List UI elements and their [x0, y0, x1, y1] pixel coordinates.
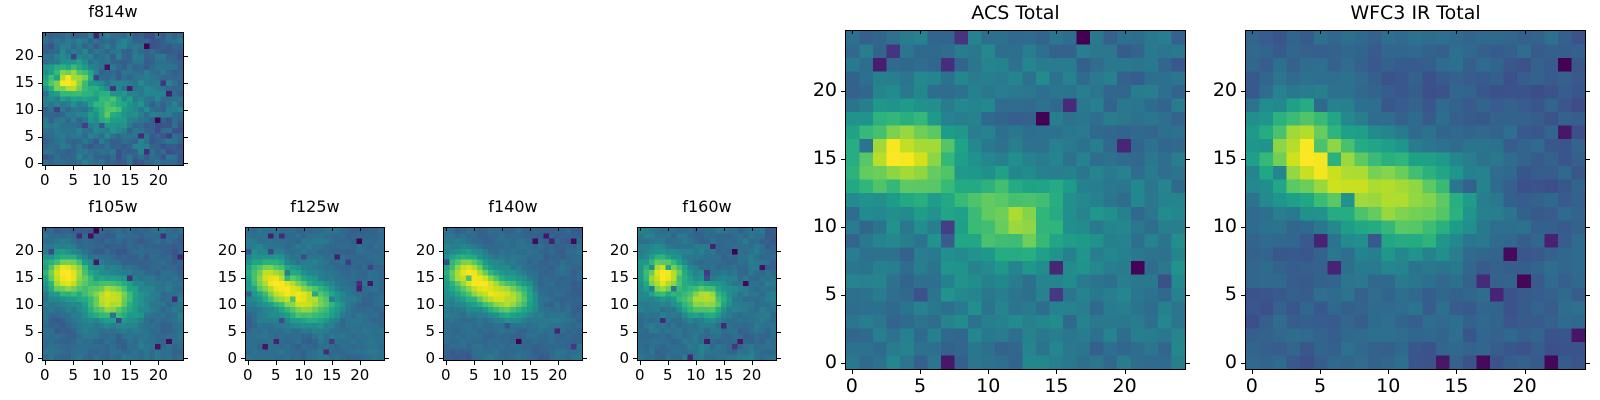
xtick-acs-total-3: [1056, 370, 1057, 374]
xtick-top-f814w-4: [158, 32, 159, 36]
ytick-label-f814w-4: 20: [0, 48, 34, 63]
ytick-label-wfc3-ir-total-0: 0: [1167, 353, 1237, 372]
ytick-acs-total-0: [841, 363, 845, 364]
heatmap-axes-f160w[interactable]: [637, 227, 777, 361]
xtick-top-f125w-4: [360, 227, 361, 231]
xtick-f125w-1: [276, 361, 277, 365]
ytick-label-acs-total-0: 0: [767, 353, 837, 372]
ytick-label-f160w-4: 20: [559, 243, 629, 258]
heatmap-axes-acs-total[interactable]: [845, 30, 1186, 370]
ytick-right-f814w-2: [184, 110, 188, 111]
xtick-f160w-4: [752, 361, 753, 365]
ytick-label-f105w-1: 5: [0, 324, 34, 339]
ytick-f814w-2: [38, 110, 42, 111]
xtick-top-f814w-2: [102, 32, 103, 36]
ytick-wfc3-ir-total-4: [1241, 91, 1245, 92]
ytick-f160w-2: [633, 305, 637, 306]
ytick-label-f105w-2: 10: [0, 297, 34, 312]
ytick-f814w-3: [38, 83, 42, 84]
ytick-label-f105w-3: 15: [0, 270, 34, 285]
ytick-f125w-3: [241, 278, 245, 279]
xtick-f105w-1: [73, 361, 74, 365]
ytick-label-f125w-0: 0: [167, 351, 237, 366]
ytick-label-f125w-3: 15: [167, 270, 237, 285]
xtick-f105w-0: [45, 361, 46, 365]
ytick-label-f814w-0: 0: [0, 156, 34, 171]
xtick-wfc3-ir-total-4: [1525, 370, 1526, 374]
xtick-acs-total-4: [1125, 370, 1126, 374]
xtick-top-f105w-4: [158, 227, 159, 231]
xtick-top-wfc3-ir-total-0: [1252, 30, 1253, 34]
ytick-right-wfc3-ir-total-1: [1586, 295, 1590, 296]
ytick-label-f105w-4: 20: [0, 243, 34, 258]
xtick-f160w-3: [724, 361, 725, 365]
xtick-f105w-4: [158, 361, 159, 365]
xtick-top-f140w-1: [474, 227, 475, 231]
ytick-f160w-4: [633, 251, 637, 252]
ytick-label-wfc3-ir-total-2: 10: [1167, 217, 1237, 236]
xtick-top-f105w-1: [73, 227, 74, 231]
xtick-label-acs-total-0: 0: [822, 377, 882, 396]
ytick-label-wfc3-ir-total-1: 5: [1167, 285, 1237, 304]
xtick-top-f125w-3: [332, 227, 333, 231]
ytick-label-f125w-2: 10: [167, 297, 237, 312]
panel-title-acs-total: ACS Total: [845, 4, 1186, 23]
xtick-top-acs-total-3: [1056, 30, 1057, 34]
xtick-top-f140w-2: [502, 227, 503, 231]
ytick-f105w-1: [38, 332, 42, 333]
ytick-label-acs-total-2: 10: [767, 217, 837, 236]
xtick-top-f125w-2: [304, 227, 305, 231]
xtick-acs-total-0: [852, 370, 853, 374]
xtick-top-f160w-0: [640, 227, 641, 231]
xtick-label-f125w-4: 20: [330, 368, 390, 383]
xtick-f814w-0: [45, 166, 46, 170]
ytick-f125w-4: [241, 251, 245, 252]
ytick-label-f160w-2: 10: [559, 297, 629, 312]
ytick-f814w-4: [38, 56, 42, 57]
ytick-label-f125w-4: 20: [167, 243, 237, 258]
xtick-f105w-2: [102, 361, 103, 365]
xtick-f814w-4: [158, 166, 159, 170]
xtick-top-f125w-0: [248, 227, 249, 231]
xtick-label-acs-total-1: 5: [890, 377, 950, 396]
xtick-top-wfc3-ir-total-3: [1456, 30, 1457, 34]
xtick-f814w-3: [130, 166, 131, 170]
ytick-f160w-0: [633, 358, 637, 359]
panel-title-f105w: f105w: [42, 199, 184, 215]
heatmap-image-f160w: [638, 228, 776, 360]
ytick-right-f160w-4: [777, 251, 781, 252]
xtick-top-wfc3-ir-total-4: [1525, 30, 1526, 34]
xtick-top-wfc3-ir-total-2: [1388, 30, 1389, 34]
ytick-wfc3-ir-total-2: [1241, 227, 1245, 228]
panel-title-f125w: f125w: [245, 199, 385, 215]
ytick-label-acs-total-4: 20: [767, 81, 837, 100]
xtick-label-wfc3-ir-total-4: 20: [1495, 377, 1555, 396]
ytick-label-wfc3-ir-total-4: 20: [1167, 81, 1237, 100]
ytick-right-f814w-4: [184, 56, 188, 57]
figure-canvas: f814w0510152005101520f105w05101520051015…: [0, 0, 1600, 400]
ytick-right-wfc3-ir-total-4: [1586, 91, 1590, 92]
xtick-top-f160w-2: [696, 227, 697, 231]
xtick-f814w-1: [73, 166, 74, 170]
ytick-label-f140w-2: 10: [365, 297, 435, 312]
ytick-f814w-1: [38, 137, 42, 138]
xtick-top-f125w-1: [276, 227, 277, 231]
ytick-label-f105w-0: 0: [0, 351, 34, 366]
xtick-label-acs-total-4: 20: [1095, 377, 1155, 396]
ytick-f105w-3: [38, 278, 42, 279]
panel-title-f160w: f160w: [637, 199, 777, 215]
ytick-f125w-2: [241, 305, 245, 306]
ytick-acs-total-2: [841, 227, 845, 228]
ytick-right-f814w-3: [184, 83, 188, 84]
ytick-label-f140w-4: 20: [365, 243, 435, 258]
ytick-label-acs-total-3: 15: [767, 149, 837, 168]
xtick-wfc3-ir-total-1: [1320, 370, 1321, 374]
ytick-right-wfc3-ir-total-3: [1586, 159, 1590, 160]
xtick-f814w-2: [102, 166, 103, 170]
ytick-label-acs-total-1: 5: [767, 285, 837, 304]
xtick-top-f160w-1: [668, 227, 669, 231]
xtick-f125w-4: [360, 361, 361, 365]
ytick-right-wfc3-ir-total-2: [1586, 227, 1590, 228]
xtick-f140w-0: [446, 361, 447, 365]
ytick-label-f814w-3: 15: [0, 75, 34, 90]
xtick-label-f140w-4: 20: [528, 368, 588, 383]
xtick-label-wfc3-ir-total-1: 5: [1290, 377, 1350, 396]
ytick-f105w-0: [38, 358, 42, 359]
ytick-f140w-4: [439, 251, 443, 252]
xtick-top-f160w-4: [752, 227, 753, 231]
xtick-f140w-2: [502, 361, 503, 365]
xtick-top-f105w-3: [130, 227, 131, 231]
ytick-right-f160w-1: [777, 332, 781, 333]
xtick-top-acs-total-0: [852, 30, 853, 34]
ytick-right-wfc3-ir-total-0: [1586, 363, 1590, 364]
xtick-top-f160w-3: [724, 227, 725, 231]
ytick-label-f140w-1: 5: [365, 324, 435, 339]
xtick-top-f140w-4: [558, 227, 559, 231]
xtick-top-acs-total-2: [988, 30, 989, 34]
ytick-wfc3-ir-total-3: [1241, 159, 1245, 160]
xtick-top-f105w-2: [102, 227, 103, 231]
ytick-label-f160w-3: 15: [559, 270, 629, 285]
ytick-wfc3-ir-total-0: [1241, 363, 1245, 364]
ytick-f140w-0: [439, 358, 443, 359]
panel-title-f140w: f140w: [443, 199, 583, 215]
xtick-top-f814w-1: [73, 32, 74, 36]
heatmap-axes-f125w[interactable]: [245, 227, 385, 361]
xtick-f125w-0: [248, 361, 249, 365]
ytick-wfc3-ir-total-1: [1241, 295, 1245, 296]
xtick-f105w-3: [130, 361, 131, 365]
xtick-label-acs-total-3: 15: [1026, 377, 1086, 396]
xtick-f160w-0: [640, 361, 641, 365]
xtick-f125w-3: [332, 361, 333, 365]
xtick-wfc3-ir-total-3: [1456, 370, 1457, 374]
xtick-f140w-1: [474, 361, 475, 365]
heatmap-axes-f105w[interactable]: [42, 227, 184, 361]
xtick-f160w-2: [696, 361, 697, 365]
xtick-wfc3-ir-total-2: [1388, 370, 1389, 374]
xtick-top-f105w-0: [45, 227, 46, 231]
ytick-right-f814w-0: [184, 163, 188, 164]
ytick-f105w-2: [38, 305, 42, 306]
ytick-f814w-0: [38, 163, 42, 164]
ytick-acs-total-4: [841, 91, 845, 92]
xtick-top-acs-total-4: [1125, 30, 1126, 34]
xtick-label-acs-total-2: 10: [958, 377, 1018, 396]
ytick-right-f814w-1: [184, 137, 188, 138]
xtick-label-wfc3-ir-total-2: 10: [1358, 377, 1418, 396]
heatmap-axes-wfc3-ir-total[interactable]: [1245, 30, 1586, 370]
xtick-top-f814w-3: [130, 32, 131, 36]
heatmap-image-acs-total: [846, 31, 1185, 369]
xtick-f125w-2: [304, 361, 305, 365]
panel-title-wfc3-ir-total: WFC3 IR Total: [1245, 4, 1586, 23]
xtick-label-wfc3-ir-total-3: 15: [1426, 377, 1486, 396]
ytick-f140w-2: [439, 305, 443, 306]
xtick-label-f105w-4: 20: [128, 368, 188, 383]
ytick-acs-total-1: [841, 295, 845, 296]
heatmap-image-f814w: [43, 33, 183, 165]
ytick-right-f160w-2: [777, 305, 781, 306]
heatmap-image-f125w: [246, 228, 384, 360]
ytick-f140w-3: [439, 278, 443, 279]
ytick-f160w-1: [633, 332, 637, 333]
heatmap-image-wfc3-ir-total: [1246, 31, 1585, 369]
ytick-f125w-0: [241, 358, 245, 359]
ytick-f140w-1: [439, 332, 443, 333]
xtick-top-f140w-3: [530, 227, 531, 231]
xtick-wfc3-ir-total-0: [1252, 370, 1253, 374]
xtick-top-f814w-0: [45, 32, 46, 36]
ytick-label-f160w-1: 5: [559, 324, 629, 339]
xtick-f160w-1: [668, 361, 669, 365]
ytick-f160w-3: [633, 278, 637, 279]
ytick-label-f125w-1: 5: [167, 324, 237, 339]
heatmap-image-f105w: [43, 228, 183, 360]
ytick-label-f814w-2: 10: [0, 102, 34, 117]
xtick-top-acs-total-1: [920, 30, 921, 34]
xtick-acs-total-2: [988, 370, 989, 374]
ytick-f105w-4: [38, 251, 42, 252]
ytick-label-f140w-3: 15: [365, 270, 435, 285]
ytick-label-f160w-0: 0: [559, 351, 629, 366]
ytick-f125w-1: [241, 332, 245, 333]
ytick-label-f140w-0: 0: [365, 351, 435, 366]
xtick-label-f814w-4: 20: [128, 173, 188, 188]
panel-title-f814w: f814w: [42, 4, 184, 20]
ytick-right-f160w-3: [777, 278, 781, 279]
xtick-top-f140w-0: [446, 227, 447, 231]
xtick-top-wfc3-ir-total-1: [1320, 30, 1321, 34]
ytick-label-wfc3-ir-total-3: 15: [1167, 149, 1237, 168]
xtick-label-wfc3-ir-total-0: 0: [1222, 377, 1282, 396]
ytick-label-f814w-1: 5: [0, 129, 34, 144]
heatmap-axes-f814w[interactable]: [42, 32, 184, 166]
ytick-acs-total-3: [841, 159, 845, 160]
xtick-f140w-3: [530, 361, 531, 365]
xtick-acs-total-1: [920, 370, 921, 374]
